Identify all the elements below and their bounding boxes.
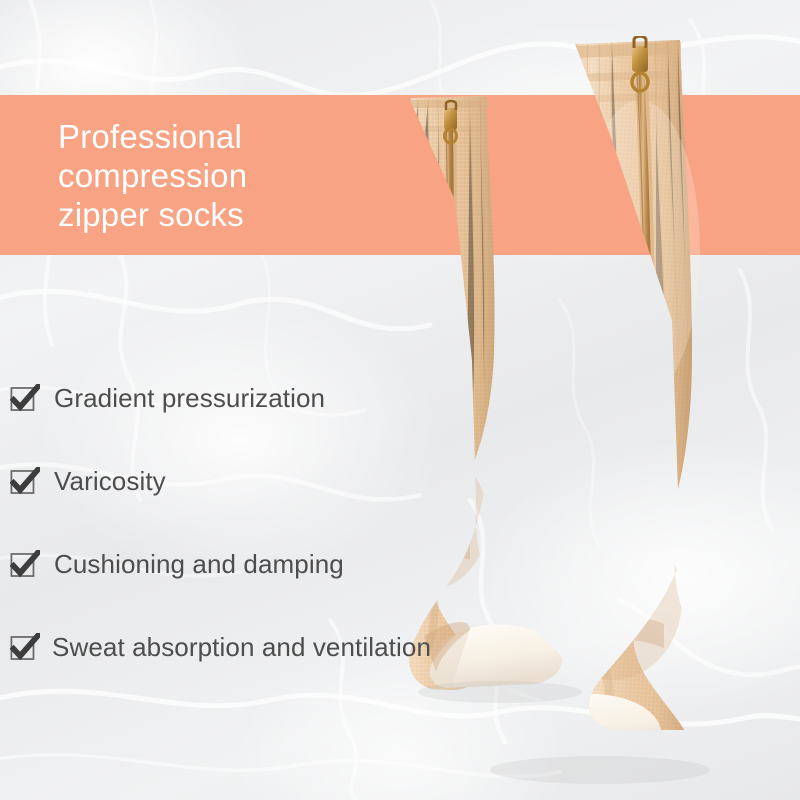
sock-right-zipper-stop (635, 428, 655, 463)
headline: Professional compression zipper socks (58, 117, 398, 234)
feature-item: Gradient pressurization (10, 378, 490, 461)
feature-label: Varicosity (54, 461, 166, 501)
feature-item: Cushioning and damping (10, 544, 490, 627)
checkbox-checked-icon (10, 633, 40, 663)
checkbox-checked-icon (10, 550, 40, 580)
headline-line-3: zipper socks (58, 195, 398, 234)
feature-list: Gradient pressurization Varicosity Cushi… (10, 378, 490, 710)
feature-label: Sweat absorption and ventilation (52, 627, 431, 667)
checkbox-checked-icon (10, 384, 40, 414)
feature-label: Cushioning and damping (54, 544, 344, 584)
feature-item: Varicosity (10, 461, 490, 544)
feature-item: Sweat absorption and ventilation (10, 627, 490, 710)
feature-label: Gradient pressurization (54, 378, 325, 418)
headline-line-2: compression (58, 156, 398, 195)
sock-right-shadow (490, 756, 710, 784)
product-image-canvas: Professional compression zipper socks Gr… (0, 0, 800, 800)
headline-line-1: Professional (58, 117, 398, 156)
checkbox-checked-icon (10, 467, 40, 497)
